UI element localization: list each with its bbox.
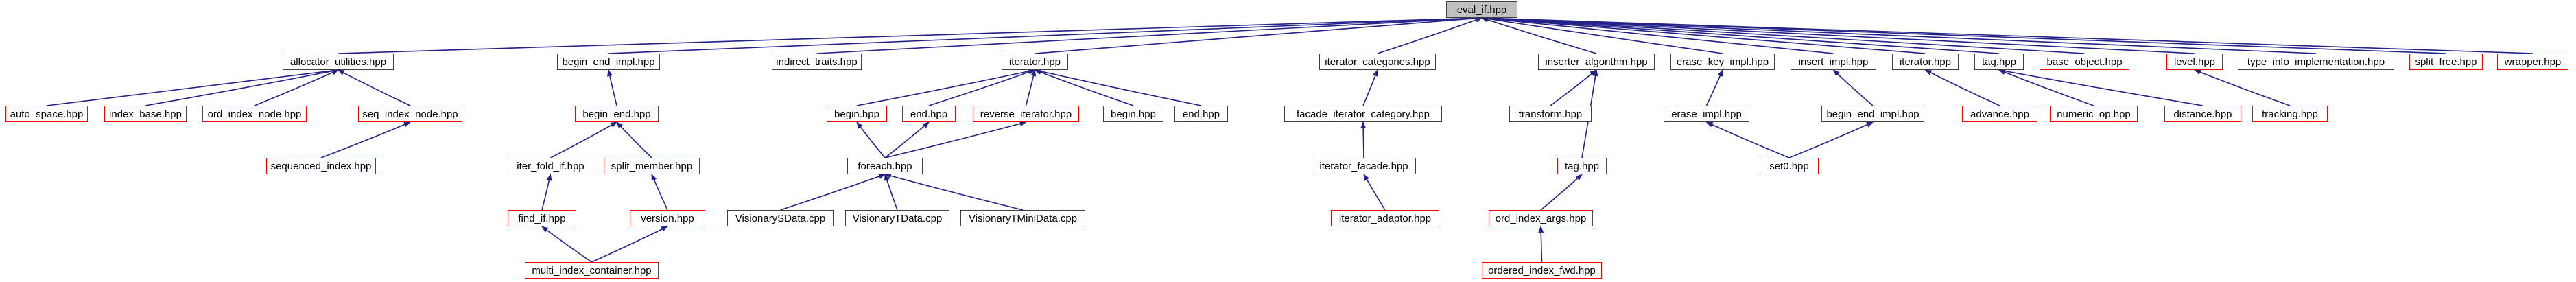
graph-node-VisionaryTMiniData[interactable]: VisionaryTMiniData.cpp — [960, 210, 1085, 226]
graph-node-sequenced_index[interactable]: sequenced_index.hpp — [266, 158, 376, 174]
graph-edge-set0-to-begin_end_impl_r3 — [1789, 122, 1873, 158]
graph-node-label: split_free.hpp — [2415, 57, 2477, 67]
graph-edge-tag_top-to-eval_if — [1482, 18, 1999, 54]
graph-node-begin_end_impl[interactable]: begin_end_impl.hpp — [557, 54, 660, 70]
graph-node-label: end.hpp — [1183, 109, 1220, 119]
graph-node-label: begin_end_impl.hpp — [1826, 109, 1919, 119]
graph-node-label: iter_fold_if.hpp — [517, 161, 584, 172]
graph-edge-ord_index_args-to-tag_r4 — [1541, 174, 1582, 210]
graph-edge-begin_end-to-begin_end_impl — [608, 70, 617, 106]
graph-node-indirect_traits[interactable]: indirect_traits.hpp — [772, 54, 862, 70]
graph-node-foreach[interactable]: foreach.hpp — [847, 158, 923, 174]
graph-node-set0[interactable]: set0.hpp — [1760, 158, 1819, 174]
graph-node-inserter_algorithm[interactable]: inserter_algorithm.hpp — [1538, 54, 1655, 70]
graph-edges-layer — [0, 0, 2576, 282]
graph-edge-allocator_utilities-to-eval_if — [338, 18, 1482, 54]
graph-edge-ordered_index_fwd-to-ord_index_args — [1541, 226, 1542, 262]
graph-node-label: eval_if.hpp — [1457, 5, 1507, 15]
graph-node-VisionarySData[interactable]: VisionarySData.cpp — [727, 210, 834, 226]
graph-edge-iterator_r2-to-eval_if — [1482, 18, 1926, 54]
graph-edge-split_free-to-eval_if — [1482, 18, 2446, 54]
graph-node-tag_r4[interactable]: tag.hpp — [1557, 158, 1607, 174]
graph-edge-insert_impl-to-eval_if — [1482, 18, 1834, 54]
graph-edge-index_base-to-allocator_utilities — [145, 70, 338, 106]
graph-node-tag_top[interactable]: tag.hpp — [1974, 54, 2024, 70]
graph-node-label: base_object.hpp — [2046, 57, 2122, 67]
graph-node-end_r3[interactable]: end.hpp — [902, 106, 956, 122]
graph-edge-advance-to-iterator_r2 — [1926, 70, 2000, 106]
graph-edge-iterator_adaptor-to-iterator_facade — [1364, 174, 1385, 210]
graph-edge-indirect_traits-to-eval_if — [817, 18, 1482, 54]
graph-edge-reverse_iterator-to-iterator_top — [1026, 70, 1035, 106]
graph-edge-begin_end_impl_r3-to-insert_impl — [1834, 70, 1874, 106]
graph-edge-ord_index_node-to-allocator_utilities — [255, 70, 338, 106]
graph-edge-begin_end_impl-to-eval_if — [608, 18, 1482, 54]
graph-edge-set0-to-erase_impl — [1707, 122, 1790, 158]
graph-node-reverse_iterator[interactable]: reverse_iterator.hpp — [973, 106, 1079, 122]
graph-edge-facade_iter_cat-to-iterator_categories — [1363, 70, 1378, 106]
graph-edge-iter_fold_if-to-begin_end — [551, 122, 617, 158]
graph-node-label: level.hpp — [2174, 57, 2215, 67]
graph-edge-tracking-to-level — [2195, 70, 2290, 106]
graph-node-ord_index_args[interactable]: ord_index_args.hpp — [1489, 210, 1593, 226]
graph-node-label: auto_space.hpp — [10, 109, 84, 119]
graph-edge-erase_key_impl-to-eval_if — [1482, 18, 1723, 54]
graph-node-advance[interactable]: advance.hpp — [1962, 106, 2037, 122]
graph-node-wrapper[interactable]: wrapper.hpp — [2497, 54, 2568, 70]
graph-node-label: iterator_facade.hpp — [1319, 161, 1408, 172]
graph-edge-end_r3-to-iterator_top — [929, 70, 1035, 106]
graph-node-split_member[interactable]: split_member.hpp — [604, 158, 700, 174]
graph-edge-begin_r3b-to-iterator_top — [1035, 70, 1134, 106]
graph-node-find_if[interactable]: find_if.hpp — [508, 210, 576, 226]
graph-node-label: begin.hpp — [834, 109, 879, 119]
graph-node-label: distance.hpp — [2173, 109, 2232, 119]
graph-node-allocator_utilities[interactable]: allocator_utilities.hpp — [283, 54, 394, 70]
graph-node-label: begin.hpp — [1111, 109, 1156, 119]
graph-edge-find_if-to-iter_fold_if — [542, 174, 551, 210]
graph-node-label: iterator_categories.hpp — [1325, 57, 1430, 67]
graph-node-label: end.hpp — [910, 109, 947, 119]
graph-edge-foreach-to-reverse_iterator — [885, 122, 1026, 158]
graph-node-label: tracking.hpp — [2262, 109, 2318, 119]
graph-edge-VisionarySData-to-foreach — [781, 174, 886, 210]
graph-edge-multi_index_container-to-version — [592, 226, 668, 262]
graph-node-label: indirect_traits.hpp — [776, 57, 857, 67]
graph-node-iter_fold_if[interactable]: iter_fold_if.hpp — [508, 158, 593, 174]
include-dependency-graph: eval_if.hppallocator_utilities.hppbegin_… — [0, 0, 2576, 282]
graph-edge-wrapper-to-eval_if — [1482, 18, 2533, 54]
graph-edge-distance_n-to-tag_top — [1999, 70, 2203, 106]
graph-node-erase_key_impl[interactable]: erase_key_impl.hpp — [1670, 54, 1775, 70]
graph-node-label: VisionaryTMiniData.cpp — [969, 213, 1077, 224]
graph-node-eval_if[interactable]: eval_if.hpp — [1446, 1, 1517, 18]
graph-node-label: sequenced_index.hpp — [271, 161, 372, 172]
graph-node-index_base[interactable]: index_base.hpp — [104, 106, 187, 122]
graph-node-label: wrapper.hpp — [2505, 57, 2562, 67]
graph-edge-end_r3b-to-iterator_top — [1035, 70, 1202, 106]
graph-node-label: VisionaryTData.cpp — [853, 213, 943, 224]
graph-node-label: begin_end_impl.hpp — [562, 57, 654, 67]
graph-node-iterator_top[interactable]: iterator.hpp — [1002, 54, 1068, 70]
graph-node-label: iterator_adaptor.hpp — [1339, 213, 1431, 224]
graph-node-label: seq_index_node.hpp — [362, 109, 458, 119]
graph-node-label: ord_index_args.hpp — [1496, 213, 1587, 224]
graph-edge-sequenced_index-to-seq_index_node — [321, 122, 410, 158]
graph-node-VisionaryTData[interactable]: VisionaryTData.cpp — [845, 210, 949, 226]
graph-node-label: tag.hpp — [1565, 161, 1599, 172]
graph-node-begin_r3[interactable]: begin.hpp — [827, 106, 887, 122]
graph-node-label: set0.hpp — [1769, 161, 1809, 172]
graph-node-label: reverse_iterator.hpp — [980, 109, 1072, 119]
graph-node-label: insert_impl.hpp — [1799, 57, 1869, 67]
graph-node-begin_end_impl_r3[interactable]: begin_end_impl.hpp — [1821, 106, 1924, 122]
graph-node-label: multi_index_container.hpp — [532, 266, 651, 276]
graph-node-tracking[interactable]: tracking.hpp — [2252, 106, 2328, 122]
graph-edge-base_object-to-eval_if — [1482, 18, 2085, 54]
graph-edge-transform-to-inserter_algorithm — [1550, 70, 1596, 106]
graph-edge-multi_index_container-to-find_if — [542, 226, 592, 262]
graph-node-insert_impl[interactable]: insert_impl.hpp — [1791, 54, 1876, 70]
graph-node-auto_space[interactable]: auto_space.hpp — [5, 106, 88, 122]
graph-node-transform[interactable]: transform.hpp — [1509, 106, 1592, 122]
graph-node-iterator_r2[interactable]: iterator.hpp — [1892, 54, 1959, 70]
graph-node-end_r3b[interactable]: end.hpp — [1174, 106, 1228, 122]
graph-edge-version-to-split_member — [652, 174, 667, 210]
graph-node-label: iterator.hpp — [1009, 57, 1061, 67]
graph-node-iterator_categories[interactable]: iterator_categories.hpp — [1319, 54, 1436, 70]
graph-edge-iterator_facade-to-facade_iter_cat — [1363, 122, 1364, 158]
graph-node-begin_r3b[interactable]: begin.hpp — [1103, 106, 1163, 122]
graph-node-facade_iter_cat[interactable]: facade_iterator_category.hpp — [1284, 106, 1442, 122]
graph-node-type_info_impl[interactable]: type_info_implementation.hpp — [2238, 54, 2394, 70]
graph-edge-VisionaryTData-to-foreach — [885, 174, 897, 210]
graph-node-label: facade_iterator_category.hpp — [1297, 109, 1430, 119]
graph-node-numeric_op[interactable]: numeric_op.hpp — [2050, 106, 2138, 122]
graph-edge-type_info_impl-to-eval_if — [1482, 18, 2316, 54]
graph-node-label: erase_impl.hpp — [1671, 109, 1742, 119]
graph-node-label: VisionarySData.cpp — [735, 213, 825, 224]
graph-node-erase_impl[interactable]: erase_impl.hpp — [1664, 106, 1749, 122]
graph-edge-split_member-to-begin_end — [617, 122, 652, 158]
graph-edge-foreach-to-end_r3 — [885, 122, 929, 158]
graph-node-label: tag.hpp — [1982, 57, 2016, 67]
graph-node-iterator_facade[interactable]: iterator_facade.hpp — [1312, 158, 1416, 174]
graph-node-ordered_index_fwd[interactable]: ordered_index_fwd.hpp — [1482, 262, 1602, 279]
graph-node-label: transform.hpp — [1519, 109, 1583, 119]
graph-node-iterator_adaptor[interactable]: iterator_adaptor.hpp — [1331, 210, 1439, 226]
graph-node-label: type_info_implementation.hpp — [2247, 57, 2385, 67]
graph-node-base_object[interactable]: base_object.hpp — [2040, 54, 2129, 70]
graph-edge-iterator_top-to-eval_if — [1035, 18, 1482, 54]
graph-edge-inserter_algorithm-to-eval_if — [1482, 18, 1596, 54]
graph-node-label: find_if.hpp — [518, 213, 565, 224]
graph-node-label: index_base.hpp — [109, 109, 182, 119]
graph-node-label: foreach.hpp — [858, 161, 912, 172]
graph-node-distance_n[interactable]: distance.hpp — [2164, 106, 2241, 122]
graph-node-split_free[interactable]: split_free.hpp — [2409, 54, 2483, 70]
graph-node-label: version.hpp — [641, 213, 694, 224]
graph-edge-seq_index_node-to-allocator_utilities — [338, 70, 410, 106]
graph-node-label: iterator.hpp — [1900, 57, 1951, 67]
graph-node-label: split_member.hpp — [611, 161, 692, 172]
graph-node-label: allocator_utilities.hpp — [290, 57, 386, 67]
graph-edge-numeric_op-to-tag_top — [1999, 70, 2094, 106]
graph-node-label: ord_index_node.hpp — [208, 109, 302, 119]
graph-node-label: numeric_op.hpp — [2057, 109, 2131, 119]
graph-node-label: begin_end.hpp — [582, 109, 650, 119]
graph-node-seq_index_node[interactable]: seq_index_node.hpp — [358, 106, 462, 122]
graph-edge-VisionaryTMiniData-to-foreach — [885, 174, 1023, 210]
graph-node-ord_index_node[interactable]: ord_index_node.hpp — [202, 106, 307, 122]
graph-node-label: inserter_algorithm.hpp — [1545, 57, 1647, 67]
graph-node-label: advance.hpp — [1970, 109, 2029, 119]
graph-edge-erase_impl-to-erase_key_impl — [1707, 70, 1723, 106]
graph-edge-foreach-to-begin_r3 — [857, 122, 885, 158]
graph-node-label: ordered_index_fwd.hpp — [1488, 266, 1596, 276]
graph-edge-iterator_categories-to-eval_if — [1378, 18, 1482, 54]
graph-node-level[interactable]: level.hpp — [2166, 54, 2223, 70]
graph-edge-auto_space-to-allocator_utilities — [47, 70, 338, 106]
graph-node-begin_end[interactable]: begin_end.hpp — [575, 106, 659, 122]
graph-edge-level-to-eval_if — [1482, 18, 2195, 54]
graph-node-version[interactable]: version.hpp — [630, 210, 705, 226]
graph-edge-begin_r3-to-iterator_top — [857, 70, 1035, 106]
graph-node-label: erase_key_impl.hpp — [1677, 57, 1769, 67]
graph-node-multi_index_container[interactable]: multi_index_container.hpp — [525, 262, 659, 279]
